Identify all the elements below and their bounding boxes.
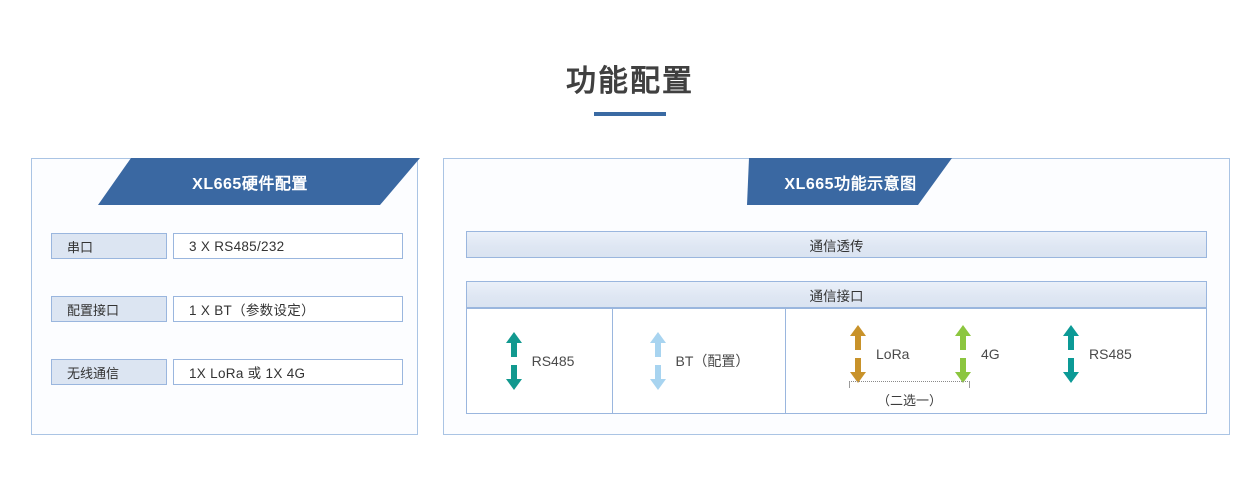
flow-bar-label: 通信接口 xyxy=(810,285,864,305)
interface-label-rs485-secondary: RS485 xyxy=(1089,346,1132,362)
flow-bar-label: 通信透传 xyxy=(810,235,864,255)
interface-cell-radio: LoRa 4G RS485 （二选一） xyxy=(786,309,1206,413)
interface-item-rs485: RS485 xyxy=(505,332,575,390)
interface-label-lora: LoRa xyxy=(876,346,909,362)
function-diagram-banner: XL665功能示意图 xyxy=(713,158,988,205)
double-arrow-up-down-icon xyxy=(849,325,867,383)
function-diagram-panel: XL665功能示意图 通信透传 通信接口 RS485 xyxy=(443,158,1230,435)
interface-label-4g: 4G xyxy=(981,346,1000,362)
double-arrow-up-down-icon xyxy=(954,325,972,383)
spec-value-wireless: 1X LoRa 或 1X 4G xyxy=(173,359,403,385)
double-arrow-up-down-icon xyxy=(1062,325,1080,383)
spec-label-wireless: 无线通信 xyxy=(51,359,167,385)
interface-label-rs485: RS485 xyxy=(532,353,575,369)
spec-label-serial: 串口 xyxy=(51,233,167,259)
spec-value-serial: 3 X RS485/232 xyxy=(173,233,403,259)
interface-label-bt: BT（配置） xyxy=(676,351,750,371)
interface-item-lora: LoRa xyxy=(849,325,909,383)
choose-one-label: （二选一） xyxy=(838,390,981,409)
interface-cell-rs485: RS485 xyxy=(467,309,613,413)
interface-item-bt: BT（配置） xyxy=(649,332,750,390)
interface-item-rs485-secondary: RS485 xyxy=(1062,325,1132,383)
spec-row: 配置接口 1 X BT（参数设定） xyxy=(51,296,403,322)
interface-item-4g: 4G xyxy=(954,325,1000,383)
choose-one-bracket xyxy=(849,381,970,388)
title-underline xyxy=(594,112,666,116)
hardware-config-banner-label: XL665硬件配置 xyxy=(192,170,308,194)
page-title: 功能配置 xyxy=(0,62,1260,102)
hardware-config-panel: XL665硬件配置 串口 3 X RS485/232 配置接口 1 X BT（参… xyxy=(31,158,418,435)
interface-grid: RS485 BT（配置） LoRa xyxy=(466,308,1207,414)
spec-label-config-port: 配置接口 xyxy=(51,296,167,322)
flow-bar-transparent-transmission: 通信透传 xyxy=(466,231,1207,258)
hardware-config-banner: XL665硬件配置 xyxy=(98,158,420,205)
spec-row: 无线通信 1X LoRa 或 1X 4G xyxy=(51,359,403,385)
function-diagram-banner-label: XL665功能示意图 xyxy=(784,170,916,194)
double-arrow-up-down-icon xyxy=(649,332,667,390)
flow-bar-communication-interface: 通信接口 xyxy=(466,281,1207,308)
double-arrow-up-down-icon xyxy=(505,332,523,390)
interface-cell-bt: BT（配置） xyxy=(613,309,786,413)
page-title-block: 功能配置 xyxy=(0,62,1260,116)
spec-value-config-port: 1 X BT（参数设定） xyxy=(173,296,403,322)
spec-row: 串口 3 X RS485/232 xyxy=(51,233,403,259)
